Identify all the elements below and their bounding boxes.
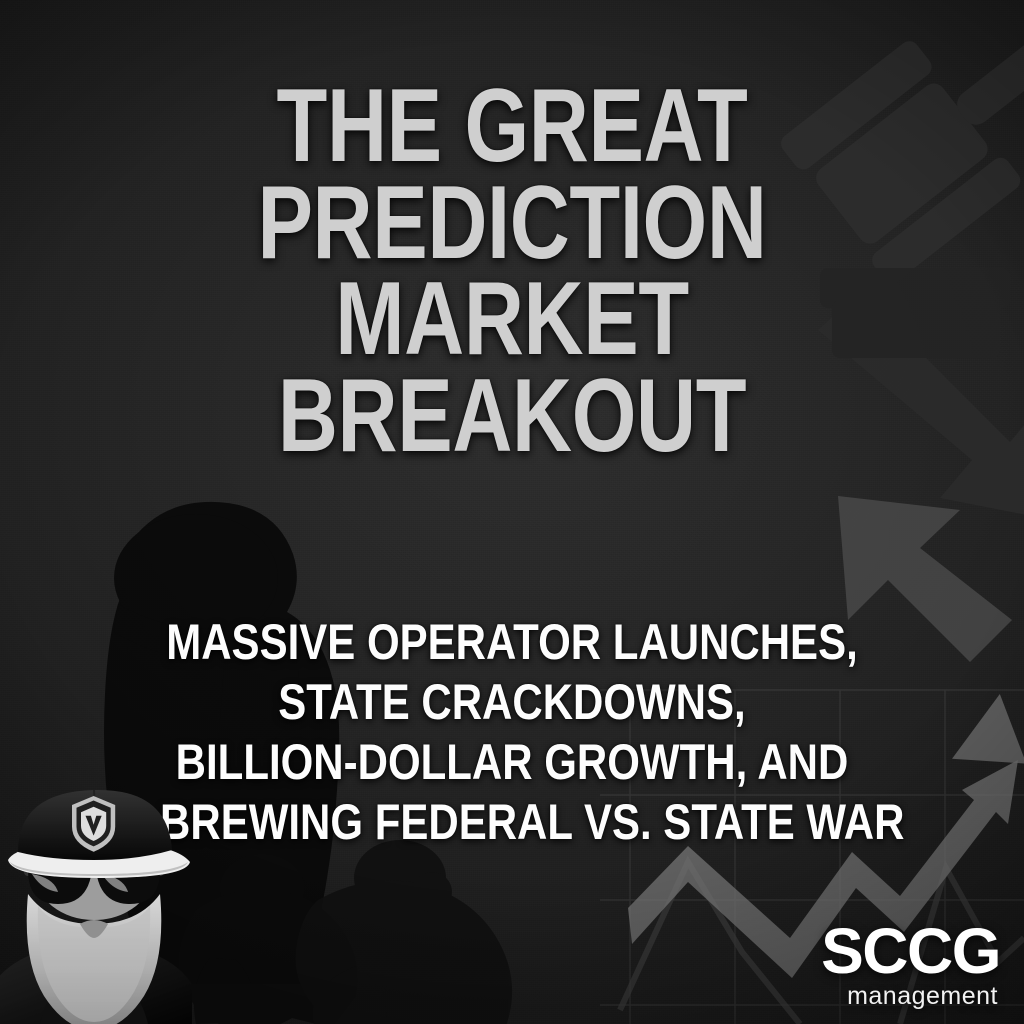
page-title: THE GREAT PREDICTION MARKET BREAKOUT [0, 78, 1024, 465]
avatar: SCCG [0, 774, 194, 1024]
headline-line-3: MARKET [102, 271, 921, 368]
subtitle-line-1: MASSIVE OPERATOR LAUNCHES, [82, 612, 942, 672]
subtitle-line-3: BILLION-DOLLAR GROWTH, AND [82, 732, 942, 792]
headline-line-1: THE GREAT [102, 78, 921, 175]
sccg-logo: SCCG management [821, 922, 1000, 1010]
poster-canvas: THE GREAT PREDICTION MARKET BREAKOUT MAS… [0, 0, 1024, 1024]
headline-line-2: PREDICTION [102, 175, 921, 272]
subtitle-line-2: STATE CRACKDOWNS, [82, 672, 942, 732]
headline-line-4: BREAKOUT [102, 368, 921, 465]
sccg-logo-mark: SCCG [821, 922, 1000, 981]
subtitle-line-4: A BREWING FEDERAL VS. STATE WAR [82, 792, 942, 852]
sccg-logo-subtitle: management [821, 983, 998, 1011]
